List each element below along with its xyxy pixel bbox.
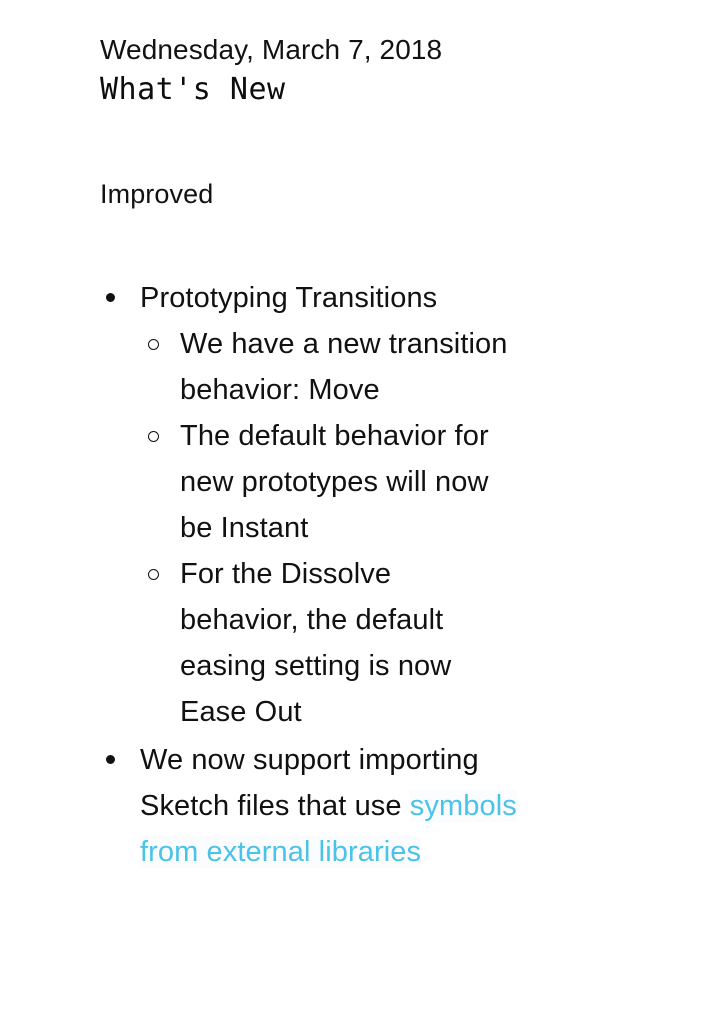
release-notes-list: Prototyping Transitions We have a new tr… [100, 275, 660, 877]
page-title: What's New [100, 70, 660, 110]
sub-list-item-label: We have a new transition behavior: Move [180, 321, 510, 413]
sub-list-item: For the Dissolve behavior, the default e… [140, 551, 660, 735]
section-heading-improved: Improved [100, 177, 213, 211]
sub-list-item: The default behavior for new prototypes … [140, 413, 660, 551]
sub-list-item-label: For the Dissolve behavior, the default e… [180, 551, 510, 735]
bullet-disc-icon [106, 275, 124, 321]
list-item-label: We now support importing Sketch files th… [140, 737, 560, 875]
sub-list-item-label: The default behavior for new prototypes … [180, 413, 510, 551]
bullet-circle-icon [148, 551, 159, 599]
bullet-circle-icon [148, 413, 159, 461]
sub-list-item: We have a new transition behavior: Move [140, 321, 660, 413]
release-notes-page: Wednesday, March 7, 2018 What's New Impr… [0, 0, 720, 1033]
bullet-disc-icon [106, 737, 124, 783]
bullet-circle-icon [148, 321, 159, 369]
list-item: We now support importing Sketch files th… [100, 737, 660, 875]
list-item: Prototyping Transitions We have a new tr… [100, 275, 660, 735]
sub-list: We have a new transition behavior: Move … [140, 321, 660, 735]
release-notes-header: Wednesday, March 7, 2018 What's New [100, 33, 660, 110]
list-item-label: Prototyping Transitions [140, 275, 560, 321]
release-date: Wednesday, March 7, 2018 [100, 33, 660, 67]
